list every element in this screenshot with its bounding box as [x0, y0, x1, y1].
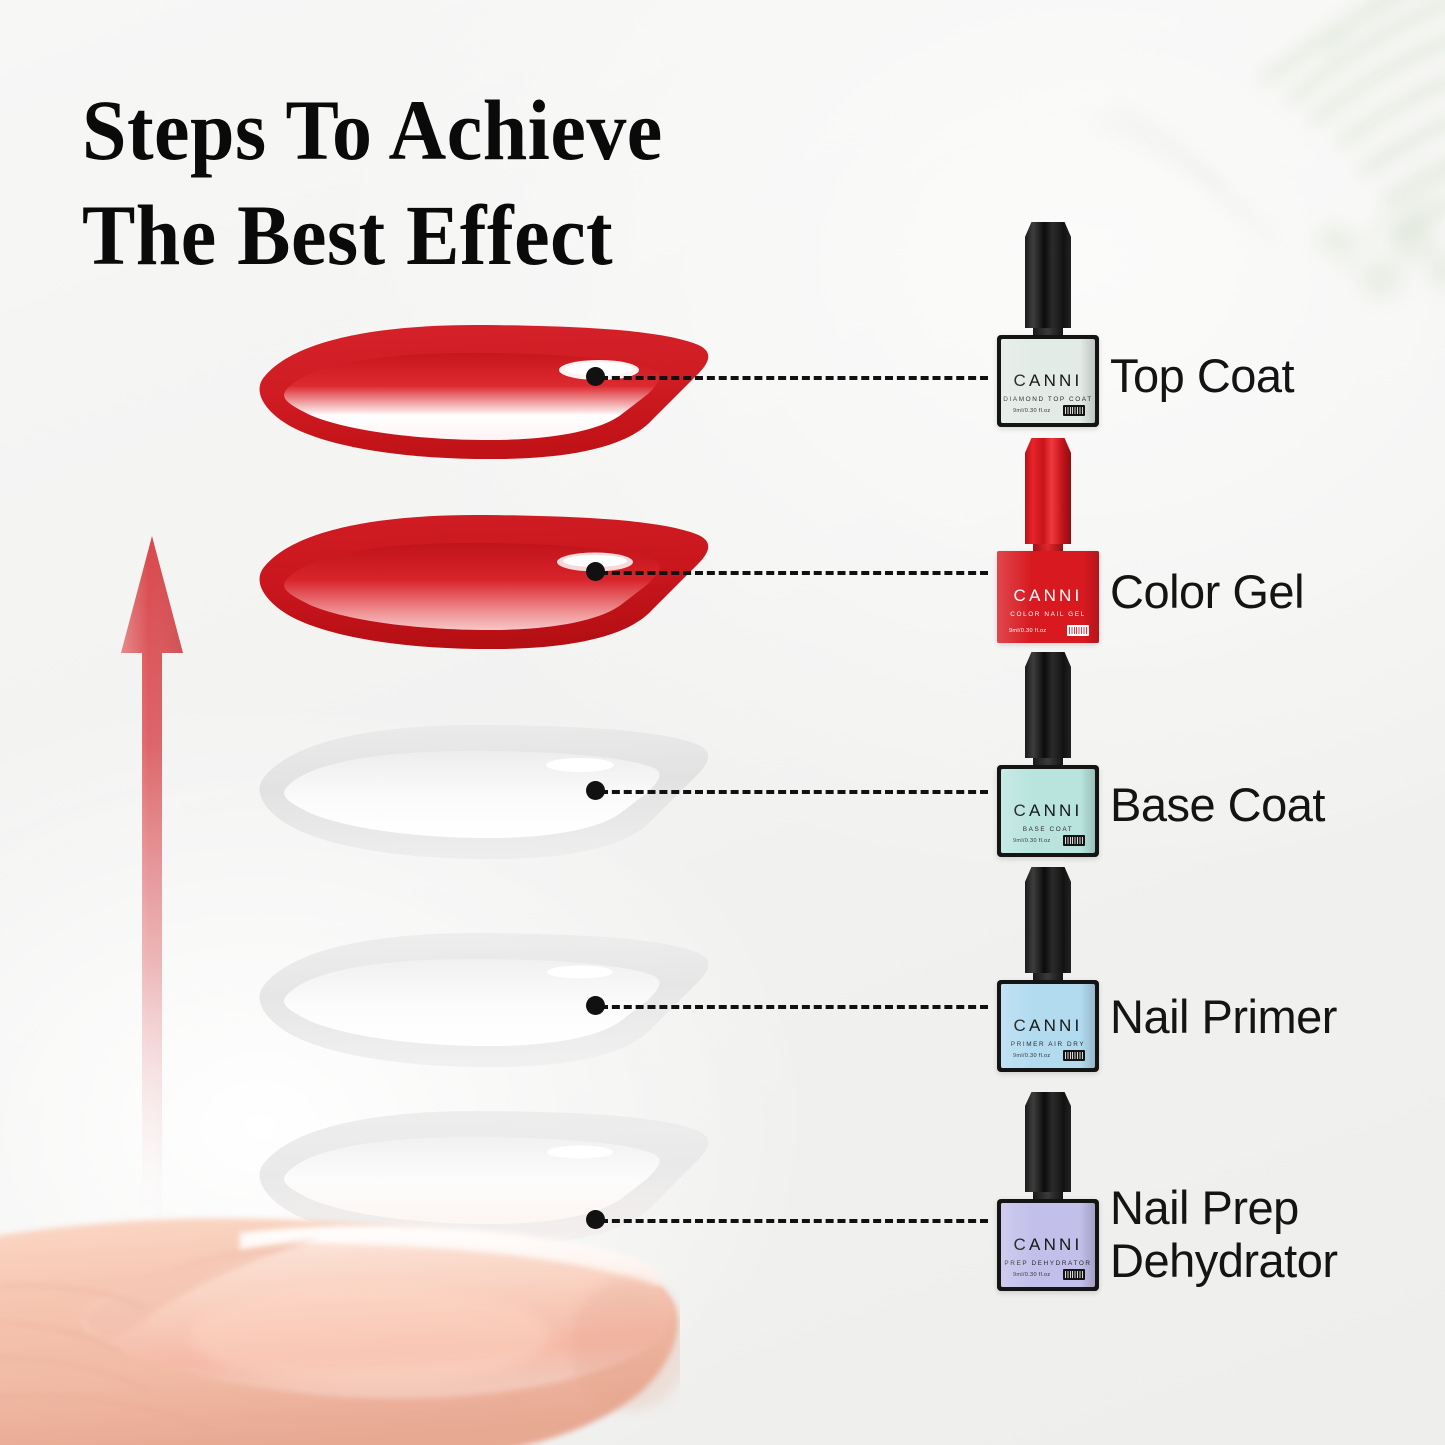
bottle-cap-top-coat: [1025, 222, 1071, 328]
bottle-barcode-icon: [1063, 1269, 1085, 1280]
bottle-brand-label: CANNI: [1014, 586, 1083, 606]
bottle-volume-label: 9ml/0.30 fl.oz: [1013, 1272, 1050, 1278]
bottle-variant-label: PRIMER AIR DRY: [1011, 1041, 1085, 1048]
clear-gel-layer-nail-prep: [250, 1108, 720, 1268]
bottle-neck: [1033, 328, 1063, 335]
thumb-with-nail-image: [0, 1175, 680, 1445]
bottle-base-coat[interactable]: CANNI BASE COAT 9ml/0.30 fl.oz: [997, 652, 1099, 857]
bottle-cap-nail-prep: [1025, 1092, 1071, 1192]
leader-line-color-gel: [600, 571, 988, 575]
bottle-brand-label: CANNI: [1014, 1016, 1083, 1036]
palm-frond-icon: [1095, 0, 1445, 310]
bottle-body-nail-prep: CANNI PREP DEHYDRATOR 9ml/0.30 fl.oz: [997, 1199, 1099, 1291]
bottle-top-coat[interactable]: CANNI DIAMOND TOP COAT 9ml/0.30 fl.oz: [997, 222, 1099, 427]
bottle-cap-base-coat: [1025, 652, 1071, 758]
bottle-variant-label: DIAMOND TOP COAT: [1003, 396, 1092, 403]
bottle-brand-label: CANNI: [1014, 371, 1083, 391]
bottle-barcode-icon: [1063, 835, 1085, 846]
bottle-volume-label: 9ml/0.30 fl.oz: [1009, 628, 1046, 634]
bottle-variant-label: BASE COAT: [1023, 826, 1074, 833]
bottle-barcode-icon: [1063, 1050, 1085, 1061]
leader-line-nail-prep: [600, 1219, 988, 1223]
bottle-cap-nail-primer: [1025, 867, 1071, 973]
bottle-neck: [1033, 544, 1063, 551]
bottle-barcode-icon: [1067, 625, 1089, 636]
bottle-color-gel[interactable]: CANNI COLOR NAIL GEL 9ml/0.30 fl.oz: [997, 438, 1099, 643]
bottle-variant-label: PREP DEHYDRATOR: [1004, 1260, 1091, 1267]
bottle-volume-label: 9ml/0.30 fl.oz: [1013, 1053, 1050, 1059]
page-title: Steps To Achieve The Best Effect: [82, 78, 845, 288]
step-label-color-gel: Color Gel: [1110, 566, 1304, 619]
bottle-barcode-icon: [1063, 405, 1085, 416]
title-line-1: Steps To Achieve: [82, 82, 663, 178]
bottle-neck: [1033, 1192, 1063, 1199]
bottle-variant-label: COLOR NAIL GEL: [1010, 611, 1085, 618]
bottle-brand-label: CANNI: [1014, 801, 1083, 821]
bottle-nail-prep-dehydrator[interactable]: CANNI PREP DEHYDRATOR 9ml/0.30 fl.oz: [997, 1092, 1099, 1291]
bottle-neck: [1033, 758, 1063, 765]
leader-line-top-coat: [600, 376, 988, 380]
bottle-body-color-gel: CANNI COLOR NAIL GEL 9ml/0.30 fl.oz: [997, 551, 1099, 643]
bottle-nail-primer[interactable]: CANNI PRIMER AIR DRY 9ml/0.30 fl.oz: [997, 867, 1099, 1072]
poster-canvas: Steps To Achieve The Best Effect: [0, 0, 1445, 1445]
leader-line-base-coat: [600, 790, 988, 794]
red-gel-layer-color-gel: [250, 512, 720, 662]
title-line-2: The Best Effect: [82, 183, 845, 288]
red-gel-layer-top-coat: [250, 322, 720, 472]
bottle-body-base-coat: CANNI BASE COAT 9ml/0.30 fl.oz: [997, 765, 1099, 857]
step-label-nail-primer: Nail Primer: [1110, 991, 1337, 1044]
step-label-nail-prep: Nail Prep Dehydrator: [1110, 1182, 1338, 1287]
step-label-base-coat: Base Coat: [1110, 779, 1325, 832]
bottle-brand-label: CANNI: [1014, 1235, 1083, 1255]
bottle-cap-color-gel: [1025, 438, 1071, 544]
bottle-body-nail-primer: CANNI PRIMER AIR DRY 9ml/0.30 fl.oz: [997, 980, 1099, 1072]
bottle-volume-label: 9ml/0.30 fl.oz: [1013, 408, 1050, 414]
leader-line-nail-primer: [600, 1005, 988, 1009]
step-label-top-coat: Top Coat: [1110, 350, 1294, 403]
clear-gel-layer-base-coat: [250, 722, 720, 872]
bottle-volume-label: 9ml/0.30 fl.oz: [1013, 838, 1050, 844]
bottle-neck: [1033, 973, 1063, 980]
upward-red-arrow-icon: [104, 528, 200, 1228]
bottle-body-top-coat: CANNI DIAMOND TOP COAT 9ml/0.30 fl.oz: [997, 335, 1099, 427]
